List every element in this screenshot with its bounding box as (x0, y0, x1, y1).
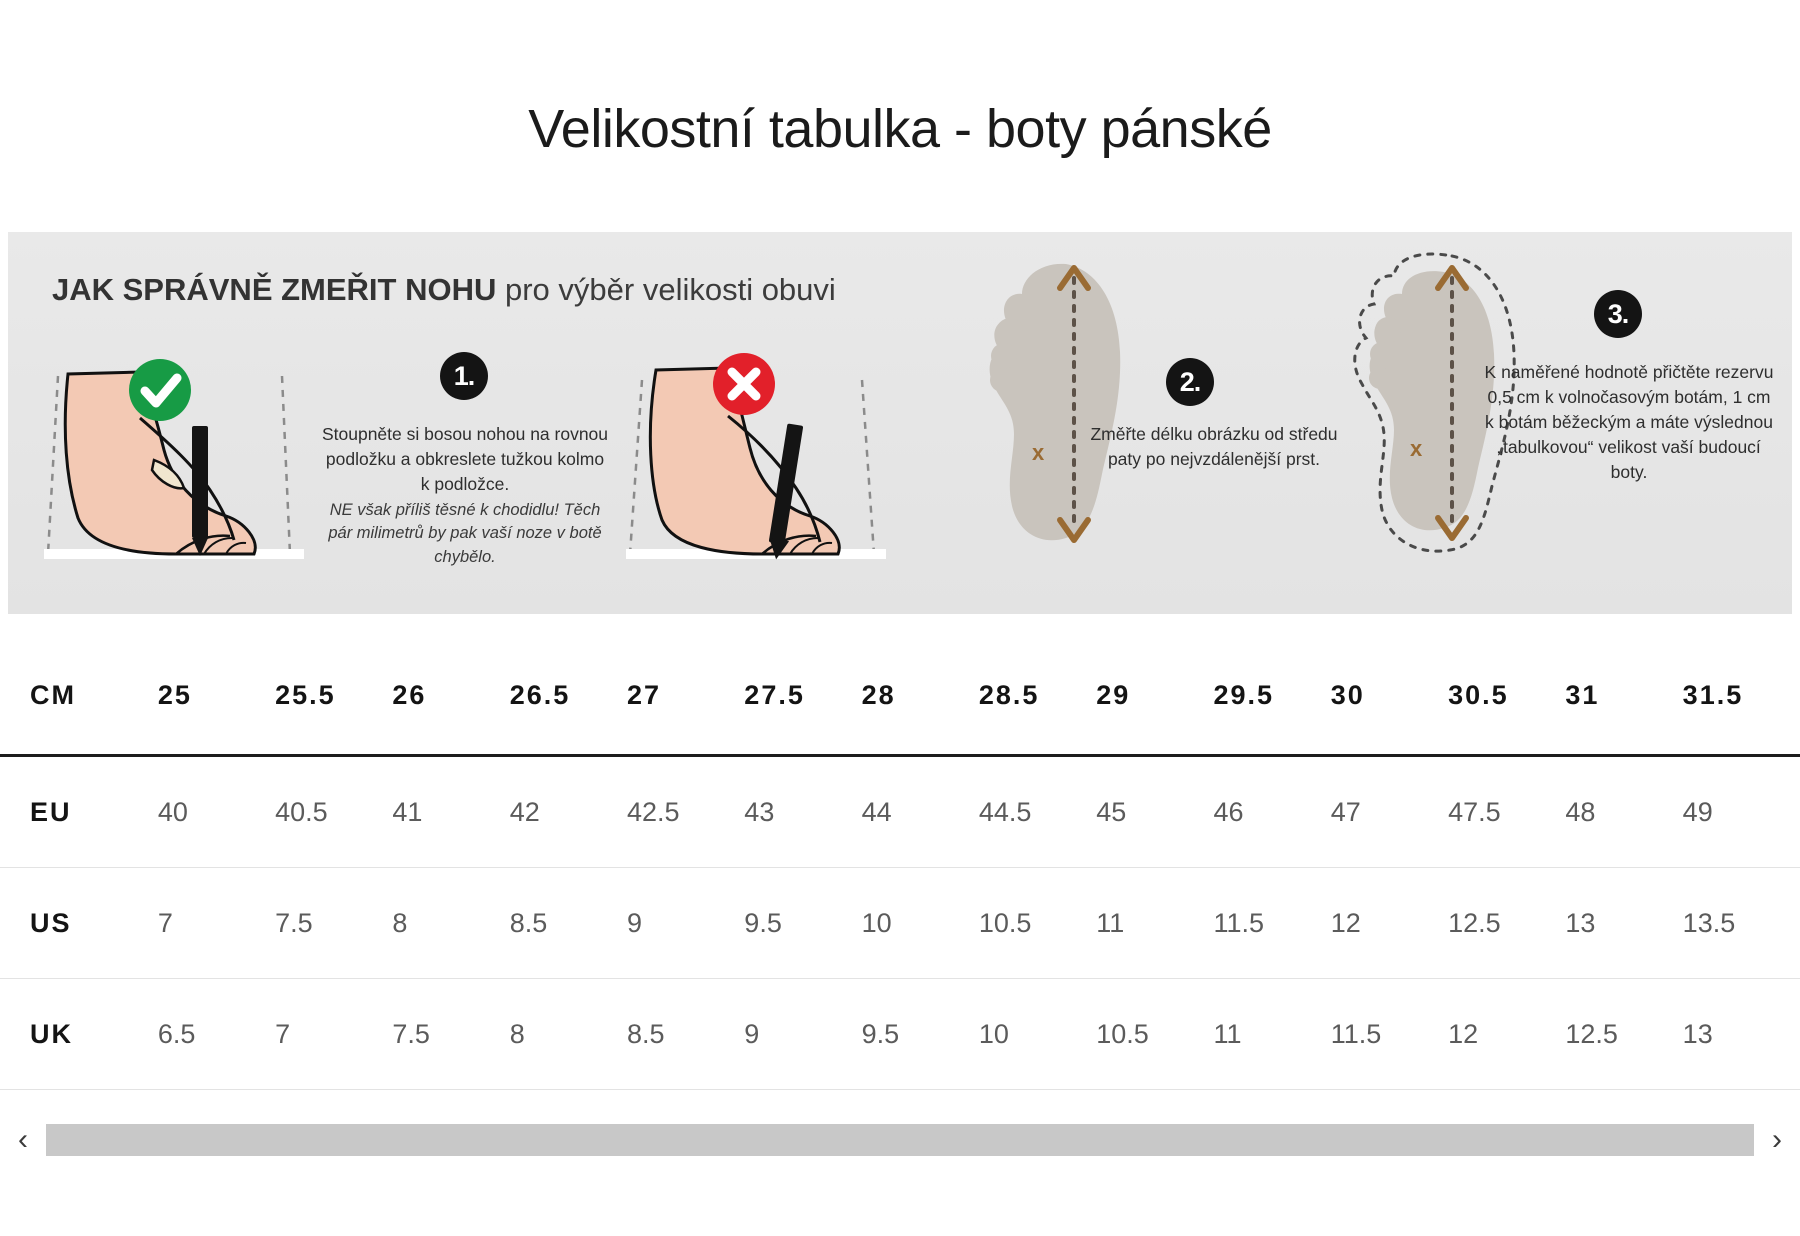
table-cell: 9.5 (862, 979, 979, 1090)
size-chart-page: Velikostní tabulka - boty pánské JAK SPR… (0, 36, 1800, 1236)
size-table-body: EU 40 40.5 41 42 42.5 43 44 44.5 45 46 4… (0, 756, 1800, 1090)
table-cell: 46 (1213, 756, 1330, 868)
banner-heading-rest: pro výběr velikosti obuvi (496, 272, 835, 307)
table-cell: 9 (627, 868, 744, 979)
table-cell: 8.5 (627, 979, 744, 1090)
table-cell: 44 (862, 756, 979, 868)
table-cell: 12 (1331, 868, 1448, 979)
row-label-eu: EU (0, 756, 158, 868)
table-cell: 7.5 (392, 979, 509, 1090)
step-1-note: NE však příliš těsné k chodidlu! Těch pá… (320, 499, 610, 569)
step-3-body: K naměřené hodnotě přičtěte rezervu 0,5 … (1485, 362, 1774, 481)
table-header-row: CM 25 25.5 26 26.5 27 27.5 28 28.5 29 29… (0, 636, 1800, 756)
scroll-left-arrow-icon[interactable]: ‹ (0, 1125, 46, 1155)
horizontal-scrollbar[interactable]: ‹ › (0, 1114, 1800, 1166)
table-cell: 11 (1213, 979, 1330, 1090)
measure-instructions-banner: JAK SPRÁVNĚ ZMEŘIT NOHU pro výběr veliko… (8, 232, 1792, 614)
table-cell: 43 (744, 756, 861, 868)
header-cell: 29 (1096, 636, 1213, 756)
scroll-right-arrow-icon[interactable]: › (1754, 1125, 1800, 1155)
header-cell: 29.5 (1213, 636, 1330, 756)
header-cell: 27 (627, 636, 744, 756)
table-cell: 42 (510, 756, 627, 868)
header-cell: 30 (1331, 636, 1448, 756)
table-cell: 13 (1683, 979, 1800, 1090)
table-cell: 48 (1565, 756, 1682, 868)
size-table-head: CM 25 25.5 26 26.5 27 27.5 28 28.5 29 29… (0, 636, 1800, 756)
table-cell: 40 (158, 756, 275, 868)
table-cell: 47.5 (1448, 756, 1565, 868)
row-label-uk: UK (0, 979, 158, 1090)
step-1-text: Stoupněte si bosou nohou na rovnou podlo… (320, 422, 610, 569)
step-1-body: Stoupněte si bosou nohou na rovnou podlo… (322, 424, 608, 494)
header-cell: 31 (1565, 636, 1682, 756)
step-2-text: Změřte délku obrázku od středu paty po n… (1080, 422, 1348, 472)
foot-pencil-correct-drawing (44, 340, 304, 570)
step-3-text: K naměřené hodnotě přičtěte rezervu 0,5 … (1484, 360, 1774, 484)
table-row-uk: UK 6.5 7 7.5 8 8.5 9 9.5 10 10.5 11 11.5… (0, 979, 1800, 1090)
step-3-number: 3. (1594, 290, 1642, 338)
header-cell: 26 (392, 636, 509, 756)
illustration-incorrect-tracing (626, 340, 886, 570)
foot-pencil-incorrect-drawing (626, 340, 886, 570)
table-cell: 11.5 (1331, 979, 1448, 1090)
table-cell: 45 (1096, 756, 1213, 868)
table-cell: 7 (275, 979, 392, 1090)
footprint-arrow-drawing: x (970, 248, 1170, 558)
table-cell: 12 (1448, 979, 1565, 1090)
table-cell: 10 (862, 868, 979, 979)
step-2-number: 2. (1166, 358, 1214, 406)
svg-text:x: x (1410, 436, 1423, 461)
table-cell: 6.5 (158, 979, 275, 1090)
table-cell: 12.5 (1565, 979, 1682, 1090)
table-cell: 44.5 (979, 756, 1096, 868)
table-cell: 7 (158, 868, 275, 979)
step-2-body: Změřte délku obrázku od středu paty po n… (1090, 424, 1337, 469)
header-cell: 28 (862, 636, 979, 756)
table-cell: 12.5 (1448, 868, 1565, 979)
table-row-us: US 7 7.5 8 8.5 9 9.5 10 10.5 11 11.5 12 … (0, 868, 1800, 979)
svg-text:x: x (1032, 440, 1045, 465)
banner-heading-strong: JAK SPRÁVNĚ ZMEŘIT NOHU (52, 272, 496, 307)
table-cell: 8 (392, 868, 509, 979)
table-cell: 8.5 (510, 868, 627, 979)
table-cell: 42.5 (627, 756, 744, 868)
table-cell: 9.5 (744, 868, 861, 979)
header-cell: 30.5 (1448, 636, 1565, 756)
illustration-correct-tracing (44, 340, 304, 570)
table-cell: 9 (744, 979, 861, 1090)
table-cell: 40.5 (275, 756, 392, 868)
table-cell: 41 (392, 756, 509, 868)
table-cell: 10 (979, 979, 1096, 1090)
header-cell: 25 (158, 636, 275, 756)
size-table: CM 25 25.5 26 26.5 27 27.5 28 28.5 29 29… (0, 636, 1800, 1090)
page-title: Velikostní tabulka - boty pánské (0, 36, 1800, 160)
table-cell: 10.5 (1096, 979, 1213, 1090)
scrollbar-thumb[interactable] (46, 1124, 1754, 1156)
row-label-us: US (0, 868, 158, 979)
table-cell: 13.5 (1683, 868, 1800, 979)
table-row-eu: EU 40 40.5 41 42 42.5 43 44 44.5 45 46 4… (0, 756, 1800, 868)
table-cell: 7.5 (275, 868, 392, 979)
table-cell: 47 (1331, 756, 1448, 868)
table-cell: 8 (510, 979, 627, 1090)
table-cell: 11 (1096, 868, 1213, 979)
table-cell: 49 (1683, 756, 1800, 868)
header-cell: 28.5 (979, 636, 1096, 756)
banner-heading: JAK SPRÁVNĚ ZMEŘIT NOHU pro výběr veliko… (52, 272, 836, 308)
table-cell: 13 (1565, 868, 1682, 979)
size-table-container[interactable]: CM 25 25.5 26 26.5 27 27.5 28 28.5 29 29… (0, 636, 1800, 1090)
header-cell: 27.5 (744, 636, 861, 756)
table-cell: 10.5 (979, 868, 1096, 979)
header-cell: 26.5 (510, 636, 627, 756)
scrollbar-track[interactable] (46, 1124, 1754, 1156)
illustration-footprint-measure: x (970, 248, 1170, 558)
header-cell-cm: CM (0, 636, 158, 756)
table-cell: 11.5 (1213, 868, 1330, 979)
header-cell: 25.5 (275, 636, 392, 756)
step-1-number: 1. (440, 352, 488, 400)
header-cell: 31.5 (1683, 636, 1800, 756)
